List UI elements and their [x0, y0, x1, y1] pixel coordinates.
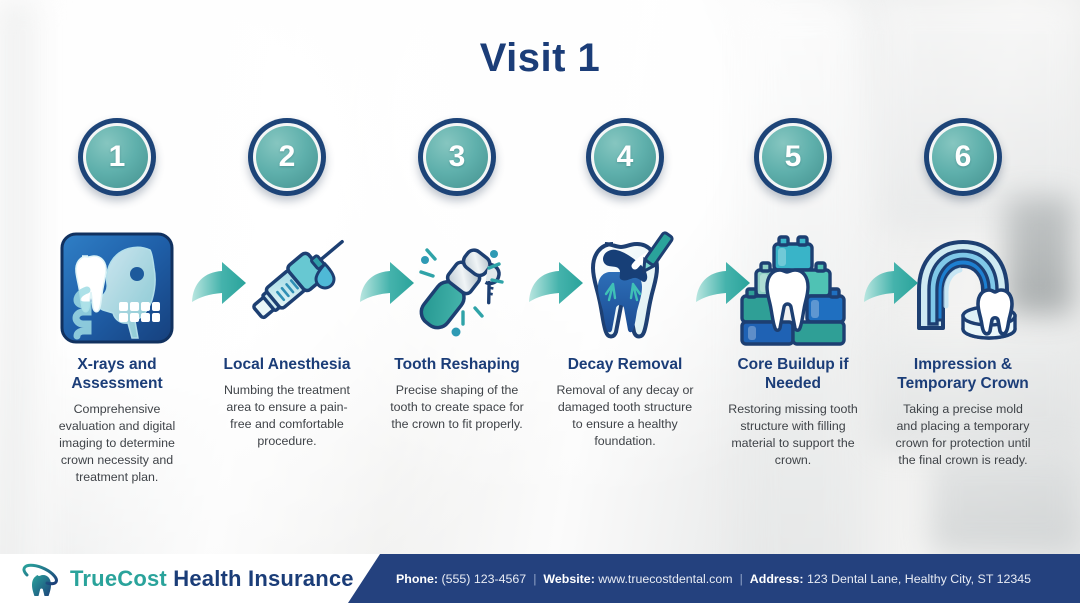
step-number-4: 4	[594, 126, 656, 188]
step-5: 5	[713, 118, 873, 469]
brand-secondary: Health Insurance	[173, 566, 353, 591]
step-number-badge-6: 6	[924, 118, 1002, 196]
address-value: 123 Dental Lane, Healthy City, ST 12345	[807, 572, 1031, 586]
step-number-3: 3	[426, 126, 488, 188]
step-number-2: 2	[256, 126, 318, 188]
contact-info: Phone: (555) 123-4567 | Website: www.tru…	[396, 554, 1031, 603]
step-desc-2: Numbing the treatment area to ensure a p…	[207, 382, 367, 450]
step-number-6: 6	[932, 126, 994, 188]
step-title-3: Tooth Reshaping	[377, 356, 537, 375]
brand-primary: TrueCost	[70, 566, 167, 591]
step-title-6: Impression & Temporary Crown	[883, 356, 1043, 394]
step-desc-5: Restoring missing tooth structure with f…	[713, 401, 873, 469]
step-number-badge-5: 5	[754, 118, 832, 196]
step-6: 6 Impression & Temporary Crown Taking a …	[883, 118, 1043, 469]
footer: TrueCost Health Insurance Phone: (555) 1…	[0, 554, 1080, 603]
step-4: 4	[545, 118, 705, 450]
step-2: 2	[207, 118, 367, 450]
impression-tray-crown-icon	[883, 224, 1043, 352]
brand-name: TrueCost Health Insurance	[70, 566, 354, 592]
step-number-5: 5	[762, 126, 824, 188]
separator: |	[533, 572, 536, 586]
step-title-4: Decay Removal	[545, 356, 705, 375]
decayed-tooth-icon	[545, 224, 705, 352]
building-blocks-tooth-icon	[713, 224, 873, 352]
step-desc-3: Precise shaping of the tooth to create s…	[377, 382, 537, 433]
step-number-badge-1: 1	[78, 118, 156, 196]
step-number-badge-4: 4	[586, 118, 664, 196]
syringe-icon	[207, 224, 367, 352]
step-title-5: Core Buildup if Needed	[713, 356, 873, 394]
page-title: Visit 1	[0, 36, 1080, 81]
phone-value[interactable]: (555) 123-4567	[441, 572, 526, 586]
step-desc-1: Comprehensive evaluation and digital ima…	[37, 401, 197, 487]
step-number-badge-2: 2	[248, 118, 326, 196]
address-label: Address:	[750, 572, 804, 586]
website-label: Website:	[543, 572, 594, 586]
step-number-1: 1	[86, 126, 148, 188]
dental-drill-icon	[377, 224, 537, 352]
step-desc-6: Taking a precise mold and placing a temp…	[883, 401, 1043, 469]
infographic-canvas: Visit 1 1	[0, 0, 1080, 603]
tooth-logo-icon	[22, 562, 60, 596]
step-number-badge-3: 3	[418, 118, 496, 196]
step-3: 3	[377, 118, 537, 433]
step-title-2: Local Anesthesia	[207, 356, 367, 375]
separator: |	[740, 572, 743, 586]
dental-xray-icon	[37, 224, 197, 352]
brand-logo[interactable]: TrueCost Health Insurance	[22, 562, 354, 596]
phone-label: Phone:	[396, 572, 438, 586]
website-value[interactable]: www.truecostdental.com	[598, 572, 732, 586]
step-desc-4: Removal of any decay or damaged tooth st…	[545, 382, 705, 450]
step-title-1: X-rays and Assessment	[37, 356, 197, 394]
step-1: 1	[37, 118, 197, 486]
